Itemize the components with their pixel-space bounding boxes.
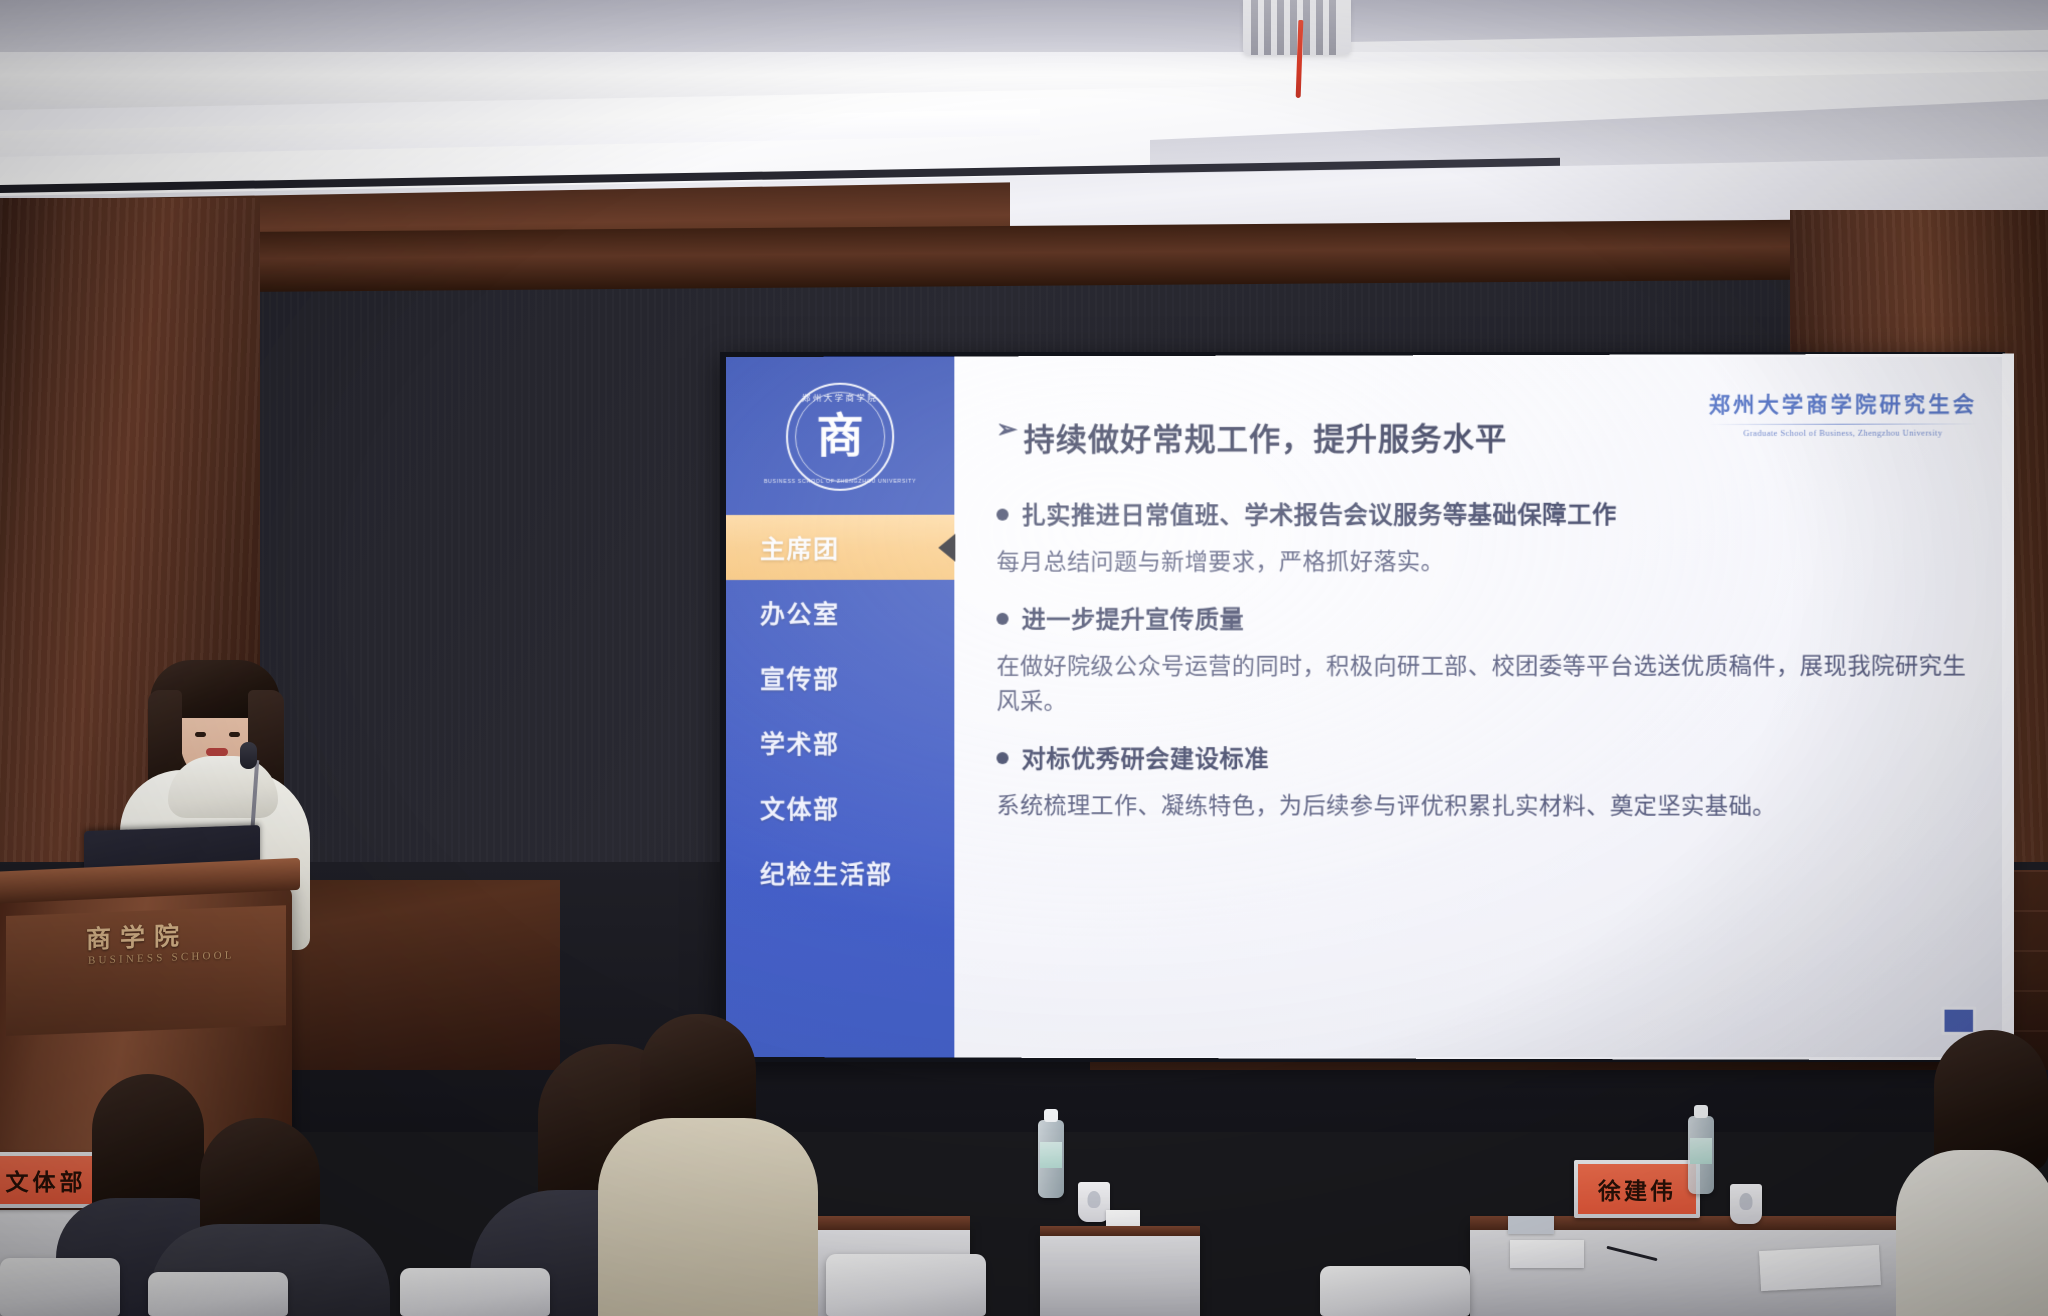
bullet-dot-icon [996, 752, 1008, 764]
emblem-mark: 商 [817, 413, 864, 460]
bullet-detail: 系统梳理工作、凝练特色，为后续参与评优积累扎实材料、奠定坚实基础。 [996, 788, 1966, 825]
bullet-dot-icon [996, 612, 1008, 624]
sidebar-item-label: 纪检生活部 [760, 855, 893, 891]
placard-xujianwei: 徐建伟 [1574, 1160, 1700, 1218]
chair-back [148, 1272, 288, 1316]
slide-sidebar: 郑州大学商学院 商 BUSINESS SCHOOL OF ZHENGZHOU U… [726, 356, 954, 1057]
audience-shoulders [598, 1118, 818, 1316]
bullet-heading-row: 扎实推进日常值班、学术报告会议服务等基础保障工作 [996, 494, 1966, 531]
sidebar-item-zhuxituan[interactable]: 主席团 [726, 515, 954, 580]
sidebar-item-label: 办公室 [760, 594, 840, 630]
paper-sheet [1759, 1245, 1881, 1291]
placard-text: 文体部 [0, 1156, 102, 1204]
placard-text: 徐建伟 [1578, 1164, 1696, 1214]
bullet-block: 对标优秀研会建设标准 系统梳理工作、凝练特色，为后续参与评优积累扎实材料、奠定坚… [996, 739, 1966, 825]
bullet-block: 扎实推进日常值班、学术报告会议服务等基础保障工作 每月总结问题与新增要求，严格抓… [996, 494, 1966, 580]
conference-room-scene: 郑州大学商学院 商 BUSINESS SCHOOL OF ZHENGZHOU U… [0, 0, 2048, 1316]
bullet-detail: 每月总结问题与新增要求，严格抓好落实。 [996, 544, 1966, 581]
bullet-heading: 进一步提升宣传质量 [1022, 599, 1245, 634]
water-bottle [1688, 1116, 1714, 1194]
brand-name-cn: 郑州大学商学院研究生会 [1709, 388, 1977, 419]
chair-back [400, 1268, 550, 1316]
arrow-bullet-icon: ➢ [996, 414, 1018, 445]
sidebar-item-label: 文体部 [760, 790, 840, 826]
sidebar-item-label: 学术部 [760, 725, 840, 761]
remote-device [1508, 1216, 1554, 1234]
emblem-arc-top: 郑州大学商学院 [802, 392, 878, 404]
wall-wood-trim [240, 220, 1800, 292]
paper-sheet [1510, 1240, 1584, 1268]
slide-sidebar-menu: 主席团 办公室 宣传部 学术部 文体部 纪检生活部 [726, 515, 954, 906]
placard-wentibu: 文体部 [0, 1152, 106, 1208]
desk-center-edge [1040, 1226, 1200, 1236]
audience-shoulders [1896, 1150, 2048, 1316]
brand-name-en: Graduate School of Business, Zhengzhou U… [1709, 427, 1977, 438]
sidebar-item-jijianshenghuobu[interactable]: 纪检生活部 [726, 840, 954, 905]
bullet-dot-icon [996, 509, 1008, 521]
microphone-icon [240, 742, 257, 769]
active-pointer-icon [938, 533, 955, 561]
school-emblem-icon: 郑州大学商学院 商 BUSINESS SCHOOL OF ZHENGZHOU U… [786, 383, 894, 491]
sidebar-item-xueshubu[interactable]: 学术部 [726, 710, 954, 775]
sidebar-item-xuanchuanbu[interactable]: 宣传部 [726, 645, 954, 710]
water-bottle [1038, 1120, 1064, 1198]
sidebar-item-label: 主席团 [760, 529, 840, 565]
audience-head [1934, 1030, 2048, 1170]
slide-content: 郑州大学商学院研究生会 Graduate School of Business,… [954, 354, 2013, 1061]
chair-back [1320, 1266, 1470, 1316]
lectern-label-cn: 商学院 [86, 916, 188, 956]
sidebar-item-label: 宣传部 [760, 659, 840, 695]
presentation-slide[interactable]: 郑州大学商学院 商 BUSINESS SCHOOL OF ZHENGZHOU U… [726, 354, 2014, 1061]
bullet-heading-row: 对标优秀研会建设标准 [996, 739, 1966, 775]
slide-title-text: 持续做好常规工作，提升服务水平 [1024, 413, 1508, 459]
slide-corner-square-decoration [1945, 1010, 1974, 1032]
chair-back [0, 1258, 120, 1316]
paper-cup [1730, 1184, 1762, 1224]
sidebar-item-bangongshi[interactable]: 办公室 [726, 580, 954, 645]
organization-brand-logo: 郑州大学商学院研究生会 Graduate School of Business,… [1709, 388, 1977, 438]
sidebar-item-wentibu[interactable]: 文体部 [726, 775, 954, 840]
desk-center [1040, 1230, 1200, 1316]
emblem-arc-bottom: BUSINESS SCHOOL OF ZHENGZHOU UNIVERSITY [764, 479, 916, 485]
bullet-block: 进一步提升宣传质量 在做好院级公众号运营的同时，积极向研工部、校团委等平台选送优… [996, 599, 1966, 720]
bullet-detail: 在做好院级公众号运营的同时，积极向研工部、校团委等平台选送优质稿件，展现我院研究… [996, 648, 1966, 720]
bullet-heading-row: 进一步提升宣传质量 [996, 599, 1966, 635]
slide-bullet-list: 扎实推进日常值班、学术报告会议服务等基础保障工作 每月总结问题与新增要求，严格抓… [996, 494, 1966, 825]
speaker-mouth [206, 748, 228, 756]
brand-divider [1709, 423, 1977, 425]
chair-back [826, 1254, 986, 1316]
bullet-heading: 对标优秀研会建设标准 [1022, 739, 1269, 774]
bullet-heading: 扎实推进日常值班、学术报告会议服务等基础保障工作 [1022, 495, 1617, 531]
speaker-hood-collar [168, 756, 278, 818]
